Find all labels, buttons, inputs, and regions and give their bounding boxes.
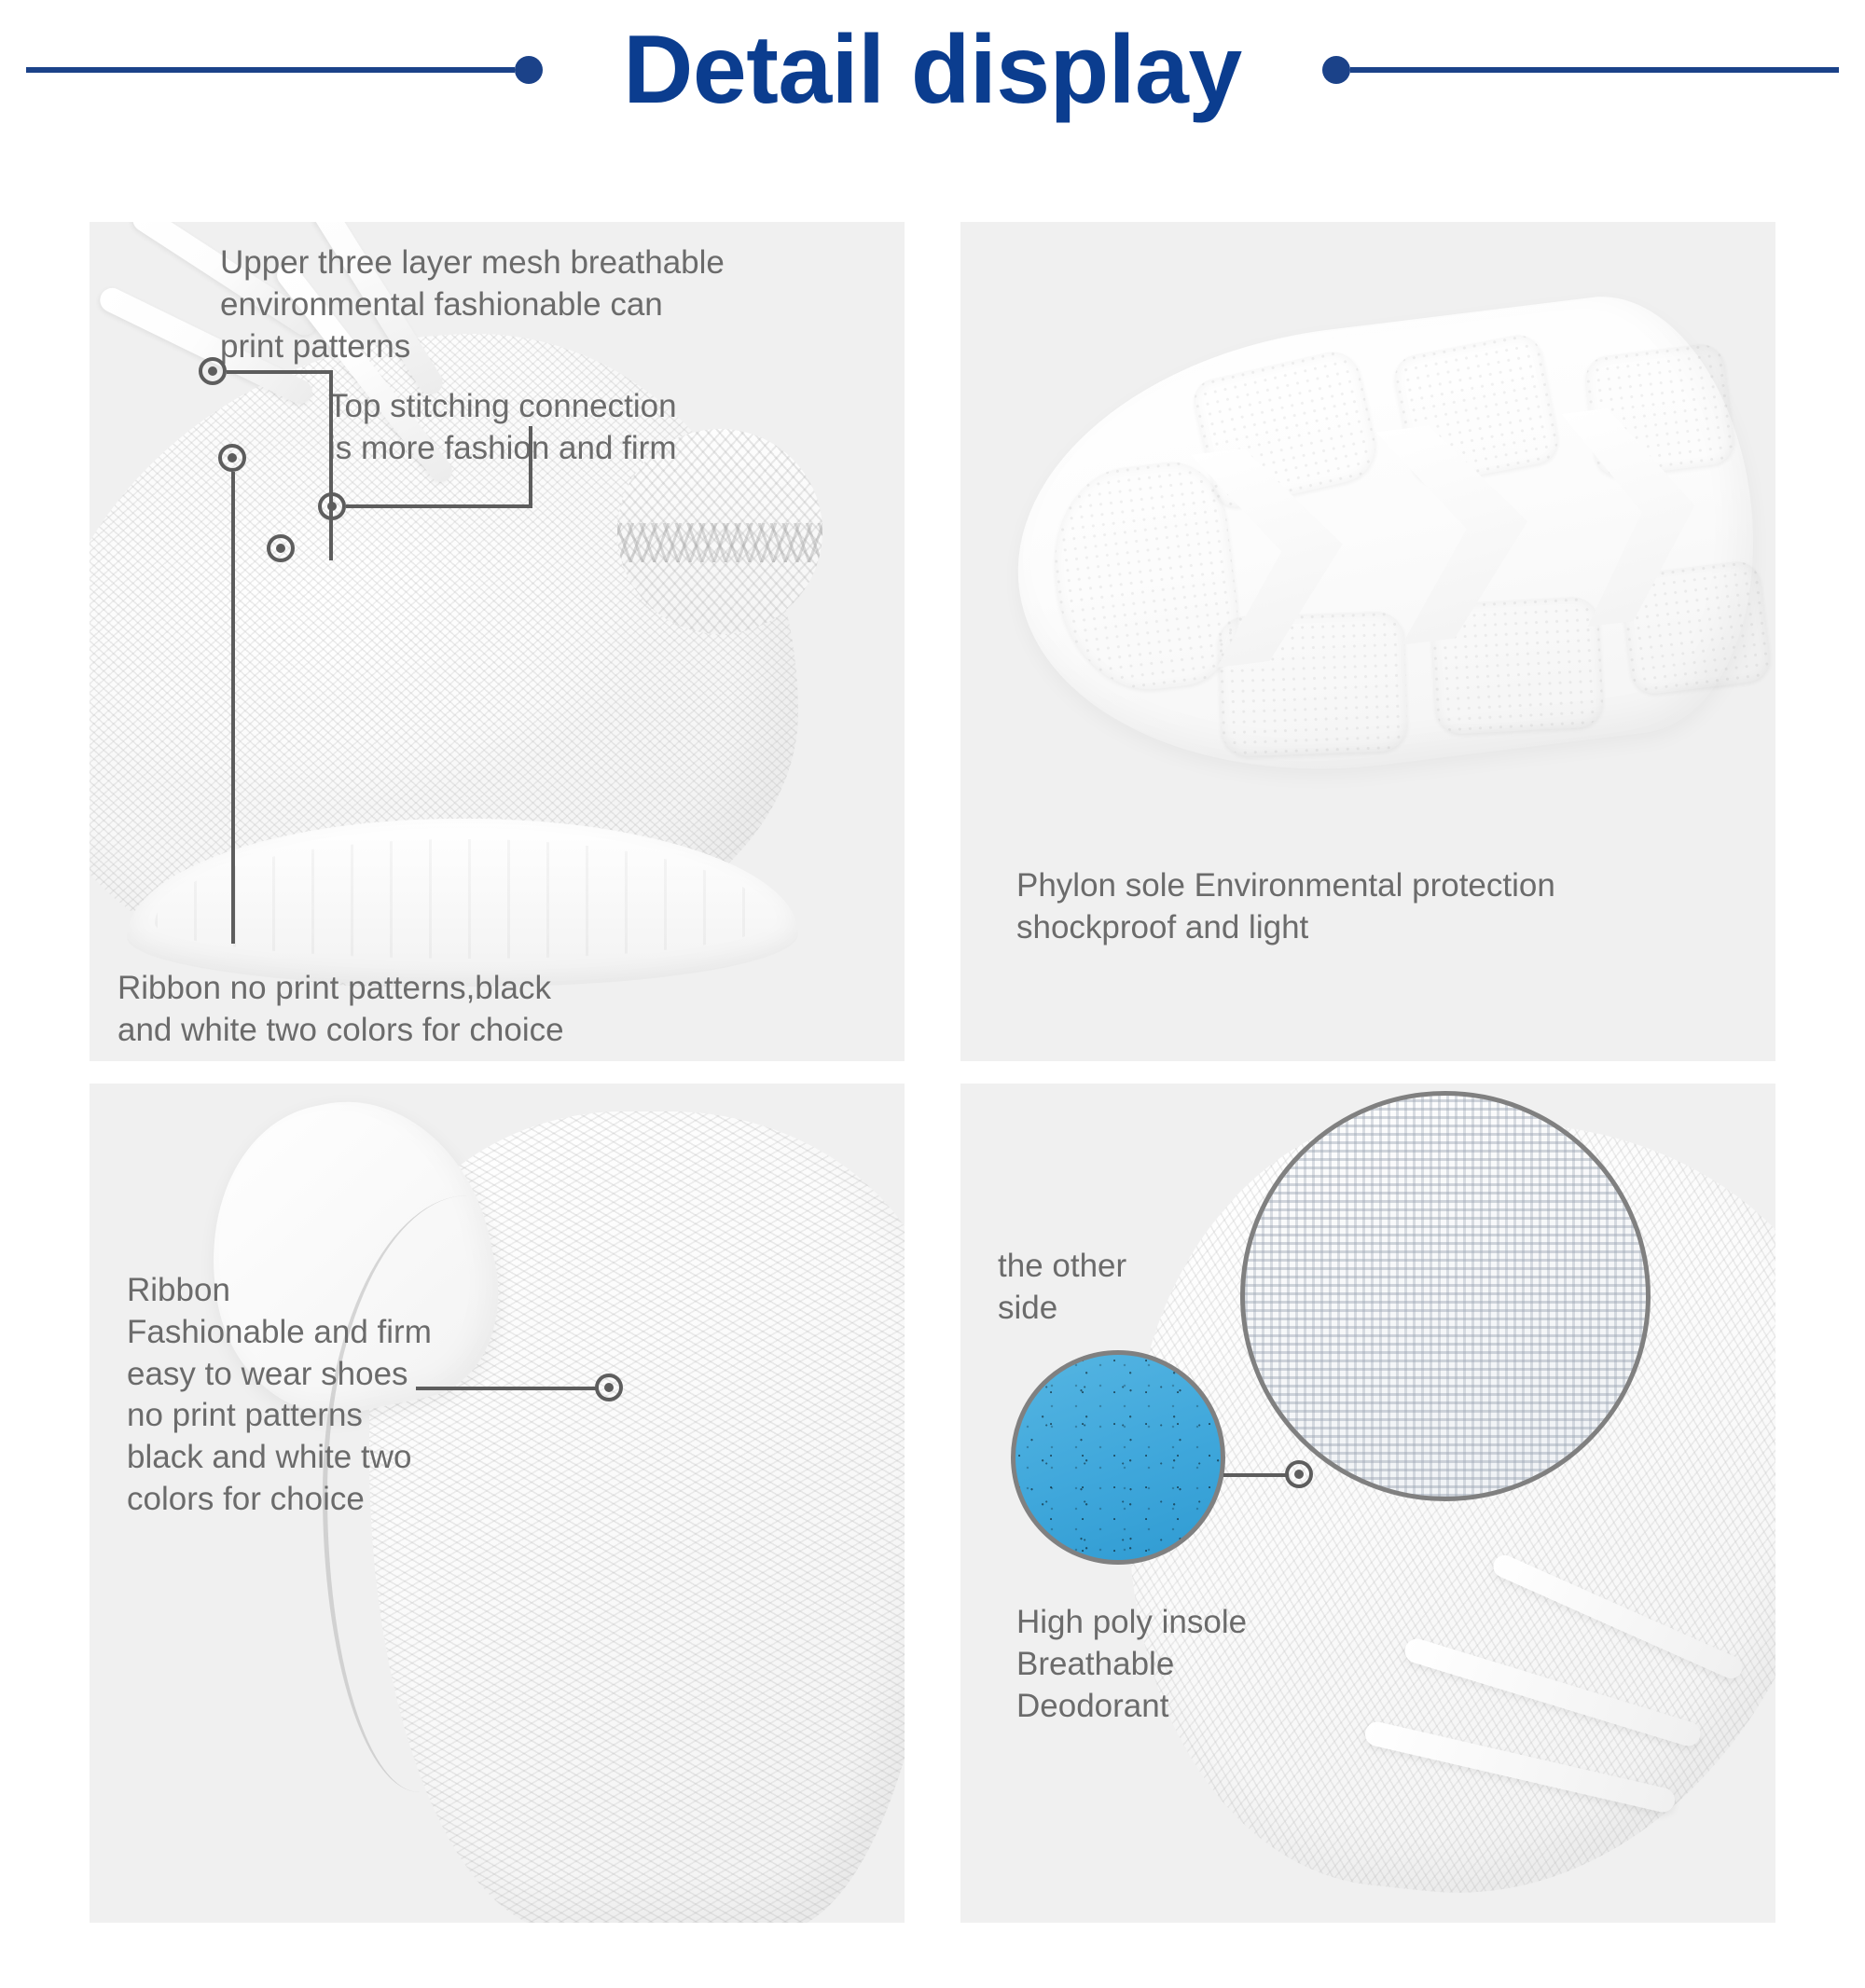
lead-corner-down — [329, 370, 333, 560]
stitch-seam — [617, 523, 822, 562]
caption-other-side: the other side — [998, 1246, 1240, 1330]
panel-ribbon-collar: Ribbon Fashionable and firm easy to wear… — [90, 1084, 905, 1923]
panel-phylon-sole: Phylon sole Environmental protection sho… — [960, 222, 1775, 1061]
caption-phylon-sole: Phylon sole Environmental protection sho… — [1016, 865, 1753, 949]
caption-high-poly-insole: High poly insole Breathable Deodorant — [1016, 1602, 1408, 1727]
insole-zoom-circle — [1011, 1350, 1225, 1565]
header-line-left — [26, 67, 515, 73]
panel-upper-mesh: Upper three layer mesh breathable enviro… — [90, 222, 905, 1061]
caption-ribbon-collar: Ribbon Fashionable and firm easy to wear… — [127, 1270, 528, 1521]
lead-stitching-v — [529, 426, 532, 508]
header-rule-left — [26, 56, 543, 84]
header-rule-right — [1322, 56, 1839, 84]
lead-stitching-h — [346, 504, 532, 508]
lead-collar-ribbon — [416, 1387, 598, 1390]
marker-stitching[interactable] — [318, 492, 346, 520]
detail-panel-grid: Upper three layer mesh breathable enviro… — [90, 222, 1775, 1923]
marker-upper-mesh[interactable] — [199, 357, 227, 385]
lead-ribbon-v — [231, 472, 235, 944]
marker-mesh-lower[interactable] — [267, 534, 295, 562]
page-title: Detail display — [543, 21, 1321, 118]
caption-upper-mesh: Upper three layer mesh breathable enviro… — [220, 242, 780, 367]
marker-insole[interactable] — [1285, 1460, 1313, 1488]
page-header: Detail display — [0, 0, 1865, 140]
outsole-group — [992, 282, 1775, 807]
lead-upper-to-corner — [227, 370, 331, 374]
header-dot-left — [515, 56, 543, 84]
marker-ribbon[interactable] — [218, 444, 246, 472]
header-line-right — [1350, 67, 1839, 73]
marker-collar-ribbon[interactable] — [595, 1374, 623, 1401]
header-dot-right — [1322, 56, 1350, 84]
lead-insole — [1223, 1473, 1289, 1477]
mesh-zoom-circle — [1240, 1091, 1651, 1501]
caption-ribbon-print: Ribbon no print patterns,black and white… — [117, 968, 658, 1052]
caption-top-stitching: Top stitching connection is more fashion… — [328, 386, 748, 470]
panel-insole: the other side High poly insole Breathab… — [960, 1084, 1775, 1923]
